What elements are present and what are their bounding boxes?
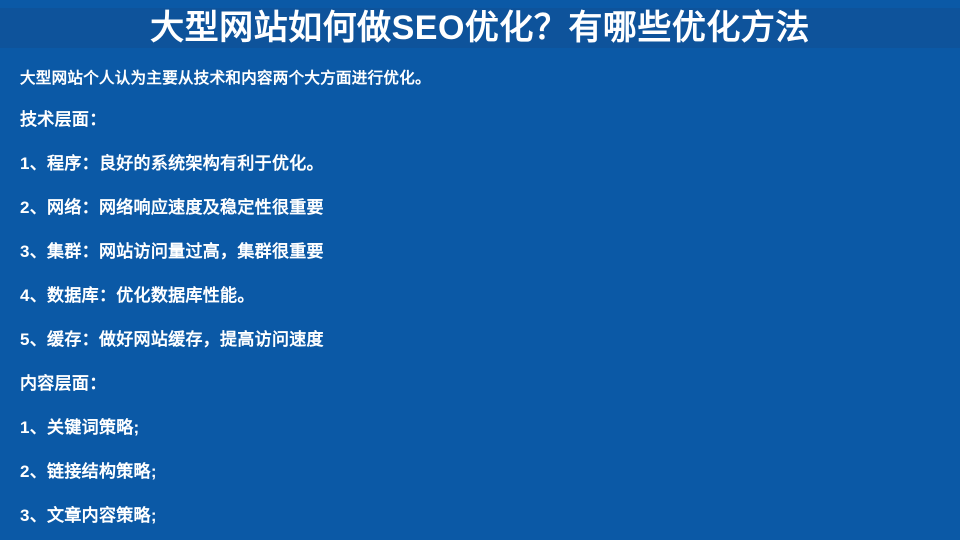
slide-body: 大型网站个人认为主要从技术和内容两个大方面进行优化。技术层面：1、程序：良好的系…	[20, 60, 940, 538]
slide-title: 大型网站如何做SEO优化？有哪些优化方法	[0, 2, 960, 54]
body-line-content-2: 2、链接结构策略;	[20, 450, 940, 494]
body-line-content-3: 3、文章内容策略;	[20, 494, 940, 538]
body-line-tech-2: 2、网络：网络响应速度及稳定性很重要	[20, 186, 940, 230]
slide-canvas: 大型网站如何做SEO优化？有哪些优化方法 大型网站个人认为主要从技术和内容两个大…	[0, 0, 960, 540]
body-line-tech-head: 技术层面：	[20, 98, 940, 142]
body-line-tech-3: 3、集群：网站访问量过高，集群很重要	[20, 230, 940, 274]
body-line-tech-1: 1、程序：良好的系统架构有利于优化。	[20, 142, 940, 186]
body-line-content-1: 1、关键词策略;	[20, 406, 940, 450]
body-line-tech-5: 5、缓存：做好网站缓存，提高访问速度	[20, 318, 940, 362]
body-line-lead: 大型网站个人认为主要从技术和内容两个大方面进行优化。	[20, 60, 940, 98]
body-line-content-head: 内容层面：	[20, 362, 940, 406]
body-line-tech-4: 4、数据库：优化数据库性能。	[20, 274, 940, 318]
